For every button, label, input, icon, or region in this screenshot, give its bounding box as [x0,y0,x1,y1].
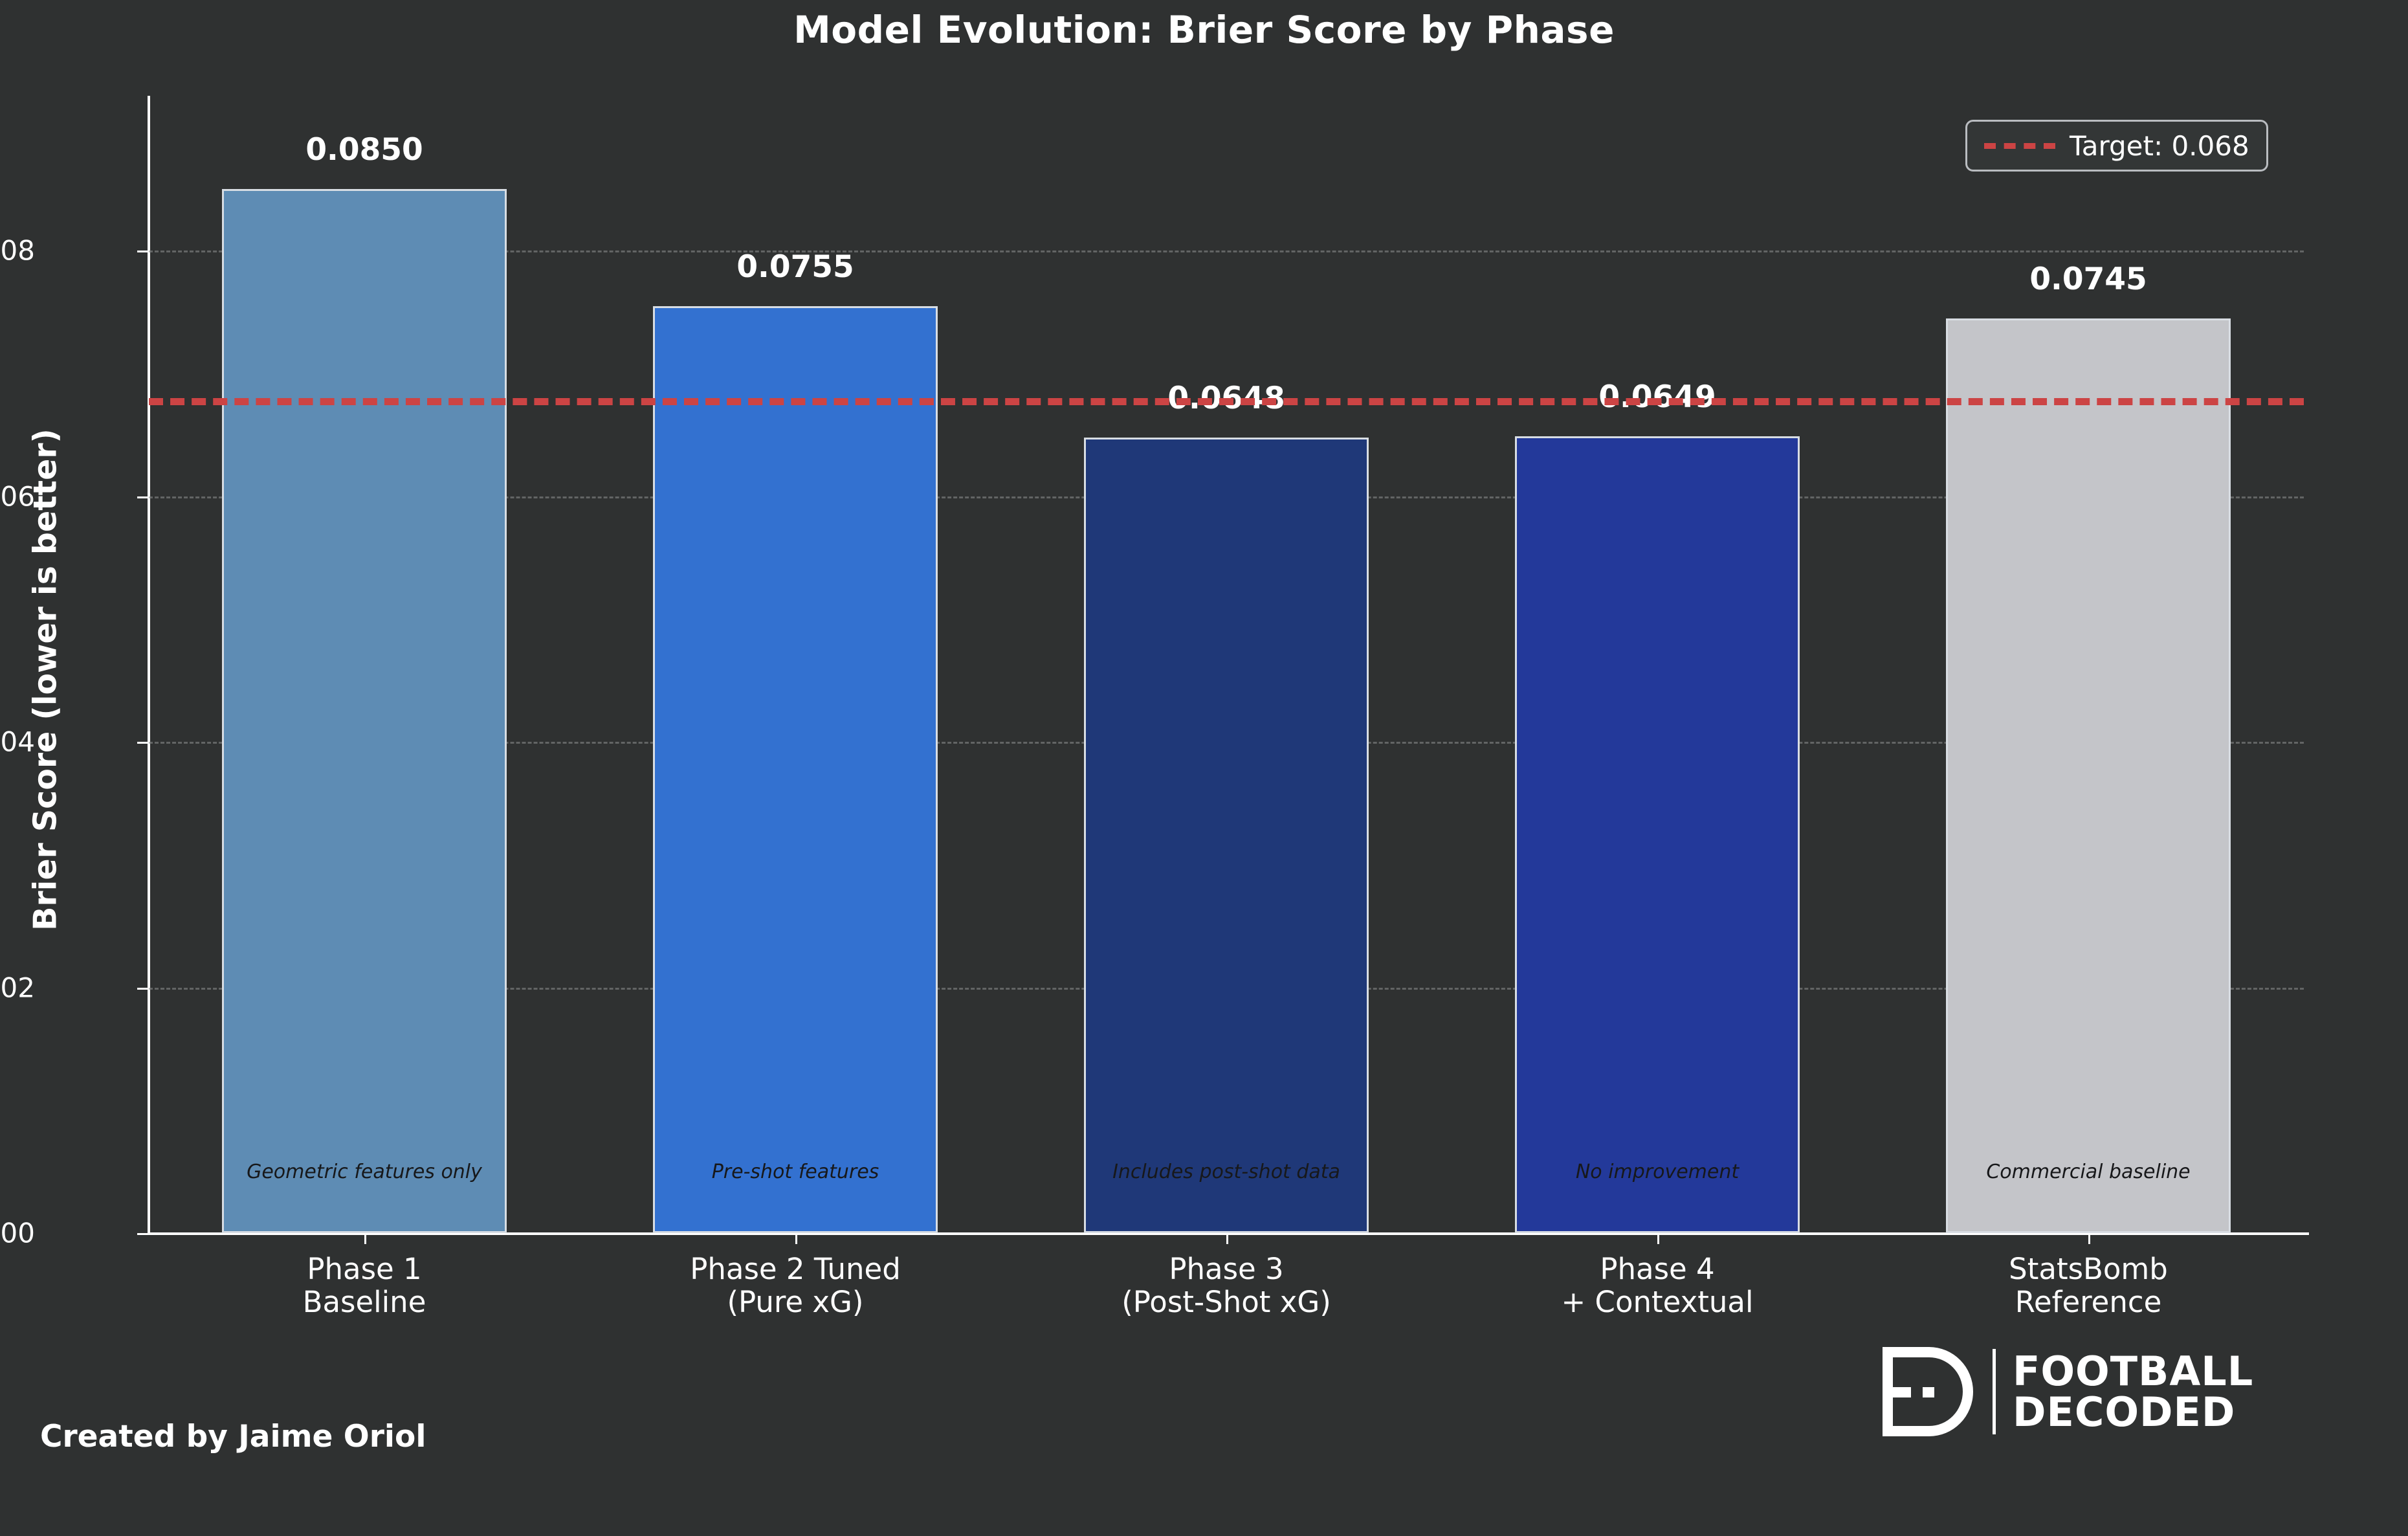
x-tick-label-line: (Pure xG) [588,1286,1002,1319]
y-tick-mark [137,742,149,744]
bar-annotation: Commercial baseline [1986,1161,2190,1183]
x-tick-label-line: Phase 1 [157,1252,571,1286]
x-tick-mark [1226,1233,1228,1244]
x-tick-label: Phase 4+ Contextual [1450,1252,1864,1319]
x-tick-label-line: + Contextual [1450,1286,1864,1319]
plot-area: 0.000.020.040.060.080.0850Geometric feat… [149,97,2304,1233]
bar[interactable] [1084,438,1369,1233]
y-tick-label: 0.00 [0,1218,35,1249]
y-tick-mark [137,496,149,498]
x-tick-mark [1657,1233,1659,1244]
legend-entry-label: Target: 0.068 [2070,130,2249,162]
x-tick-label-line: Baseline [157,1286,571,1319]
y-tick-label: 0.04 [0,726,35,758]
logo-word-football: FOOTBALL [2013,1351,2253,1392]
x-tick-label: Phase 1Baseline [157,1252,571,1319]
logo-divider [1993,1349,1996,1434]
fd-monogram-icon [1880,1343,1982,1440]
y-tick-mark [137,1233,149,1235]
bar-value-label: 0.0850 [305,132,423,168]
x-tick-mark [364,1233,366,1244]
x-tick-label: Phase 2 Tuned(Pure xG) [588,1252,1002,1319]
y-axis-title: Brier Score (lower is better) [26,388,65,971]
legend[interactable]: Target: 0.068 [1965,120,2268,172]
bar-value-label: 0.0745 [2029,262,2147,297]
x-tick-label-line: StatsBomb [1881,1252,2295,1286]
x-tick-mark [795,1233,797,1244]
x-tick-label-line: Reference [1881,1286,2295,1319]
x-tick-label-line: Phase 2 Tuned [588,1252,1002,1286]
logo-wordmark: FOOTBALL DECODED [2013,1351,2253,1432]
x-tick-mark [2088,1233,2090,1244]
x-tick-label-line: (Post-Shot xG) [1019,1286,1433,1319]
credit-text: Created by Jaime Oriol [40,1419,426,1454]
bar[interactable] [1946,318,2231,1233]
x-tick-label-line: Phase 3 [1019,1252,1433,1286]
x-tick-label-line: Phase 4 [1450,1252,1864,1286]
bar[interactable] [653,306,938,1233]
page-title: Model Evolution: Brier Score by Phase [0,8,2408,52]
target-line-swatch-icon [1984,143,2055,149]
bar[interactable] [1515,436,1800,1233]
logo-word-decoded: DECODED [2013,1392,2253,1432]
target-reference-line [149,398,2304,405]
bar-annotation: Includes post-shot data [1112,1161,1340,1183]
bar[interactable] [222,189,507,1233]
y-tick-mark [137,988,149,990]
x-tick-label: StatsBombReference [1881,1252,2295,1319]
y-tick-label: 0.08 [0,235,35,267]
bar-value-label: 0.0755 [736,249,854,285]
bar-value-label: 0.0649 [1598,379,1716,415]
bar-annotation: No improvement [1576,1161,1739,1183]
y-tick-mark [137,250,149,252]
y-tick-label: 0.06 [0,480,35,512]
bar-annotation: Pre-shot features [712,1161,879,1183]
y-tick-label: 0.02 [0,972,35,1003]
bar-annotation: Geometric features only [247,1161,482,1183]
football-decoded-logo: FOOTBALL DECODED [1880,1343,2281,1440]
x-tick-label: Phase 3(Post-Shot xG) [1019,1252,1433,1319]
